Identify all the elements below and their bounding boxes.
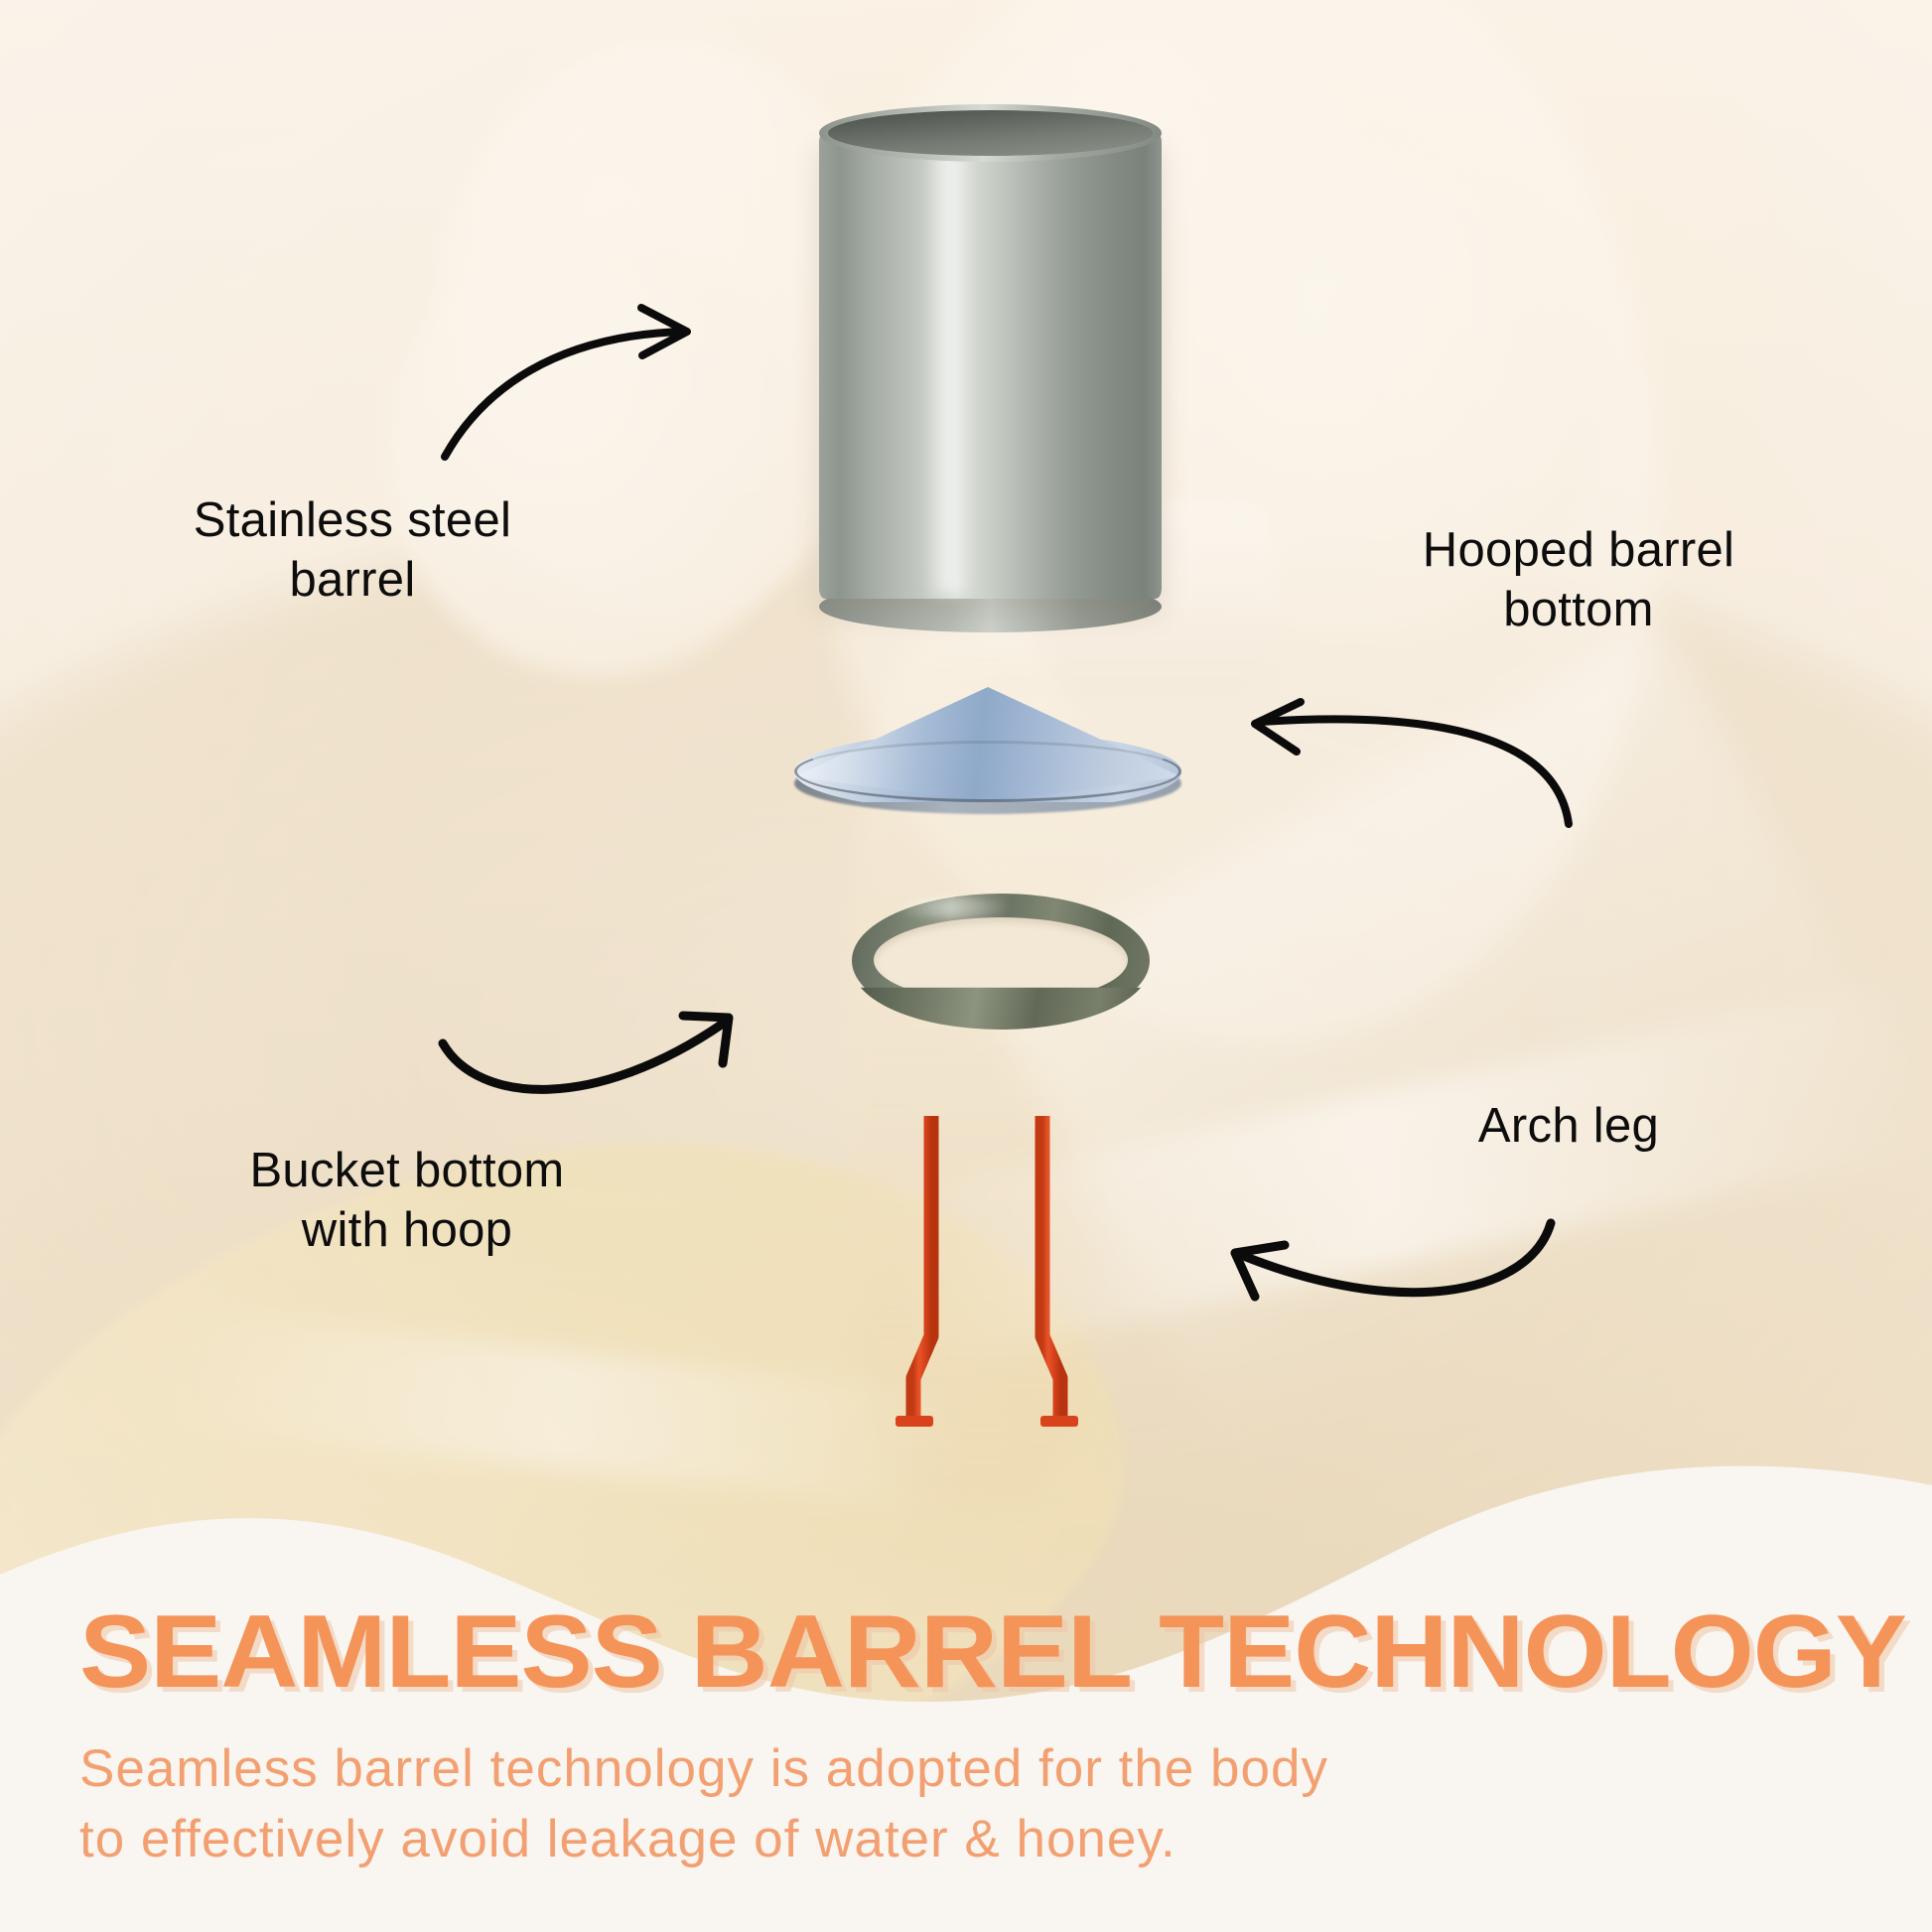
cylinder-rim-inner (828, 110, 1153, 156)
footer-text-block: SEAMLESS BARREL TECHNOLOGY Seamless barr… (0, 1600, 1932, 1932)
metal-hoop-ring (852, 894, 1150, 1028)
cylinder-body (819, 132, 1162, 599)
arrow-to-arch-leg (1219, 1209, 1557, 1328)
arrow-to-hooped-barrel-bottom (1239, 700, 1577, 834)
hoop-highlight (892, 897, 1011, 917)
arch-leg-right (1040, 1116, 1078, 1427)
arrow-to-bucket-bottom-with-hoop (437, 988, 745, 1117)
arrow-to-stainless-steel-barrel (437, 298, 764, 462)
label-arch-leg: Arch leg (1420, 1097, 1718, 1157)
headline-seamless-barrel-technology: SEAMLESS BARREL TECHNOLOGY (79, 1600, 1923, 1704)
red-arch-legs (894, 1112, 1082, 1440)
conical-barrel-bottom (794, 685, 1181, 814)
arch-leg-left (896, 1116, 933, 1427)
subheadline-description: Seamless barrel technology is adopted fo… (79, 1733, 1853, 1874)
cone-rim-edge (794, 741, 1181, 802)
poster-canvas: Stainless steel barrel Hooped barrel bot… (0, 0, 1932, 1932)
cylinder-highlight (923, 144, 975, 593)
label-stainless-steel-barrel: Stainless steel barrel (119, 491, 586, 611)
stainless-steel-cylinder (819, 104, 1162, 611)
label-bucket-bottom-with-hoop: Bucket bottom with hoop (174, 1142, 640, 1261)
label-hooped-barrel-bottom: Hooped barrel bottom (1345, 521, 1812, 640)
